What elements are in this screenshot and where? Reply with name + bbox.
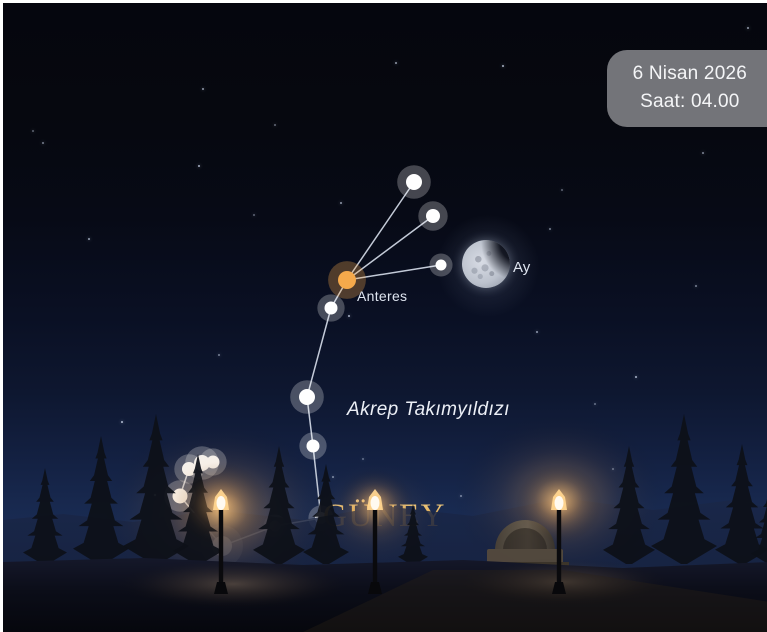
star-disc (338, 271, 356, 289)
star-antares[interactable] (328, 261, 366, 299)
sky-map-scene: Ay Anteres Akrep Takımyıldızı GÜNEY (0, 0, 767, 632)
badge-time: Saat: 04.00 (633, 88, 747, 116)
lamp-bulb (217, 496, 226, 510)
lamp-pole (219, 508, 223, 594)
date-time-badge[interactable]: 6 Nisan 2026 Saat: 04.00 (607, 50, 767, 127)
star-body-1[interactable] (317, 294, 344, 321)
star-disc (406, 174, 422, 190)
badge-date: 6 Nisan 2026 (633, 60, 747, 88)
star-claw-top[interactable] (397, 165, 431, 199)
lamp-bulb (555, 496, 564, 510)
lamp-pole (373, 508, 377, 594)
star-disc (436, 260, 447, 271)
foreground-landscape (3, 402, 767, 632)
lamp-pole (557, 508, 561, 594)
star-claw-low[interactable] (429, 253, 452, 276)
star-claw-mid[interactable] (418, 201, 447, 230)
lamp-bulb (371, 496, 380, 510)
path-light-left (113, 558, 353, 610)
star-disc (426, 209, 440, 223)
star-disc (325, 302, 338, 315)
